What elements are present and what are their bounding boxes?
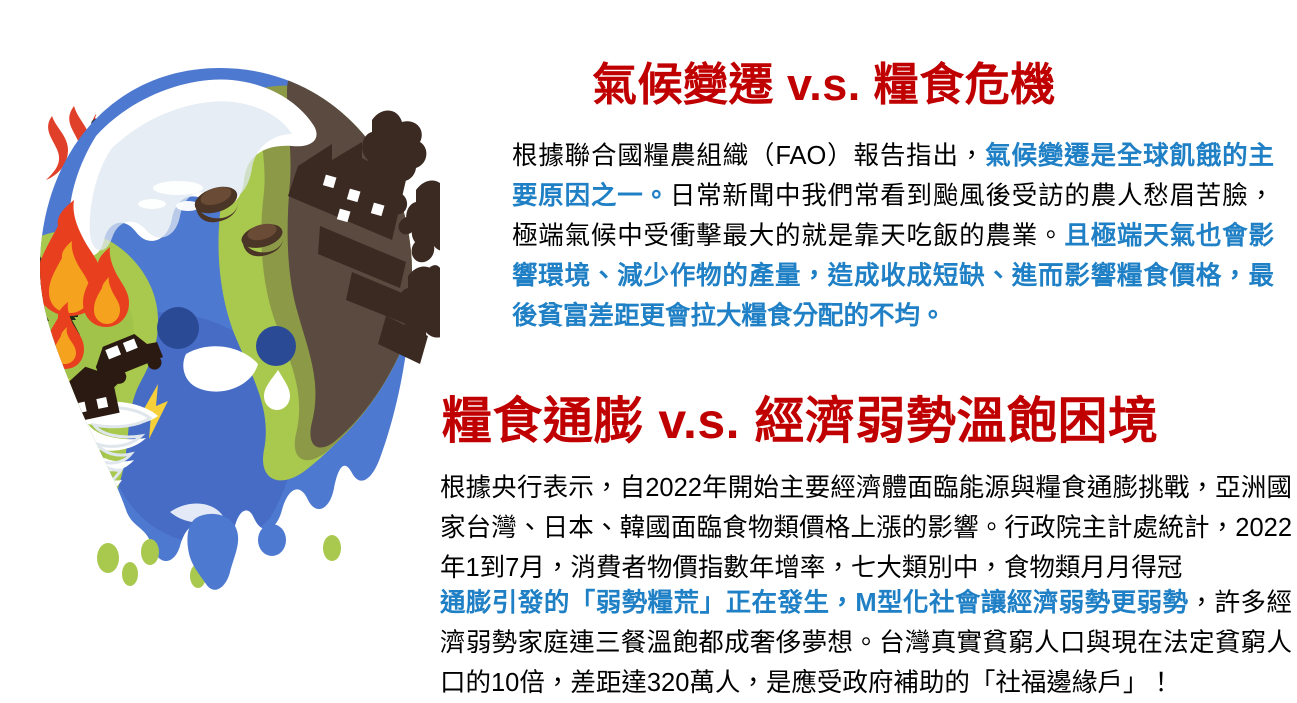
paragraph-poverty: 通膨引發的「弱勢糧荒」正在發生，M型化社會讓經濟弱勢更弱勢，許多經濟弱勢家庭連三…	[440, 583, 1292, 703]
melt-drips	[97, 514, 341, 590]
sad-face-eye	[157, 307, 199, 349]
wildfire-icon	[0, 252, 45, 336]
paragraph-central-bank: 根據央行表示，自2022年開始主要經濟體面臨能源與糧食通膨挑戰，亞洲國家台灣、日…	[440, 468, 1292, 588]
melting-earth-illustration	[0, 18, 440, 638]
run-plain: 根據央行表示，自2022年開始主要經濟體面臨能源與糧食通膨挑戰，亞洲國家台灣、日…	[440, 474, 1292, 582]
page-title-climate: 氣候變遷 v.s. 糧食危機	[592, 57, 1056, 113]
sad-face-eye	[256, 326, 296, 366]
run-plain: 根據聯合國糧農組織（FAO）報告指出，	[512, 142, 985, 170]
content-column: 氣候變遷 v.s. 糧食危機 根據聯合國糧農組織（FAO）報告指出，氣候變遷是全…	[432, 0, 1297, 694]
run-highlight: 通膨引發的「弱勢糧荒」正在發生，M型化社會讓經濟弱勢更弱勢	[440, 589, 1189, 617]
poster-root: 氣候變遷 v.s. 糧食危機 根據聯合國糧農組織（FAO）報告指出，氣候變遷是全…	[0, 0, 1297, 694]
paragraph-fao-report: 根據聯合國糧農組織（FAO）報告指出，氣候變遷是全球飢餓的主要原因之一。日常新聞…	[512, 136, 1274, 336]
page-title-inflation: 糧食通膨 v.s. 經濟弱勢溫飽困境	[442, 390, 1158, 452]
